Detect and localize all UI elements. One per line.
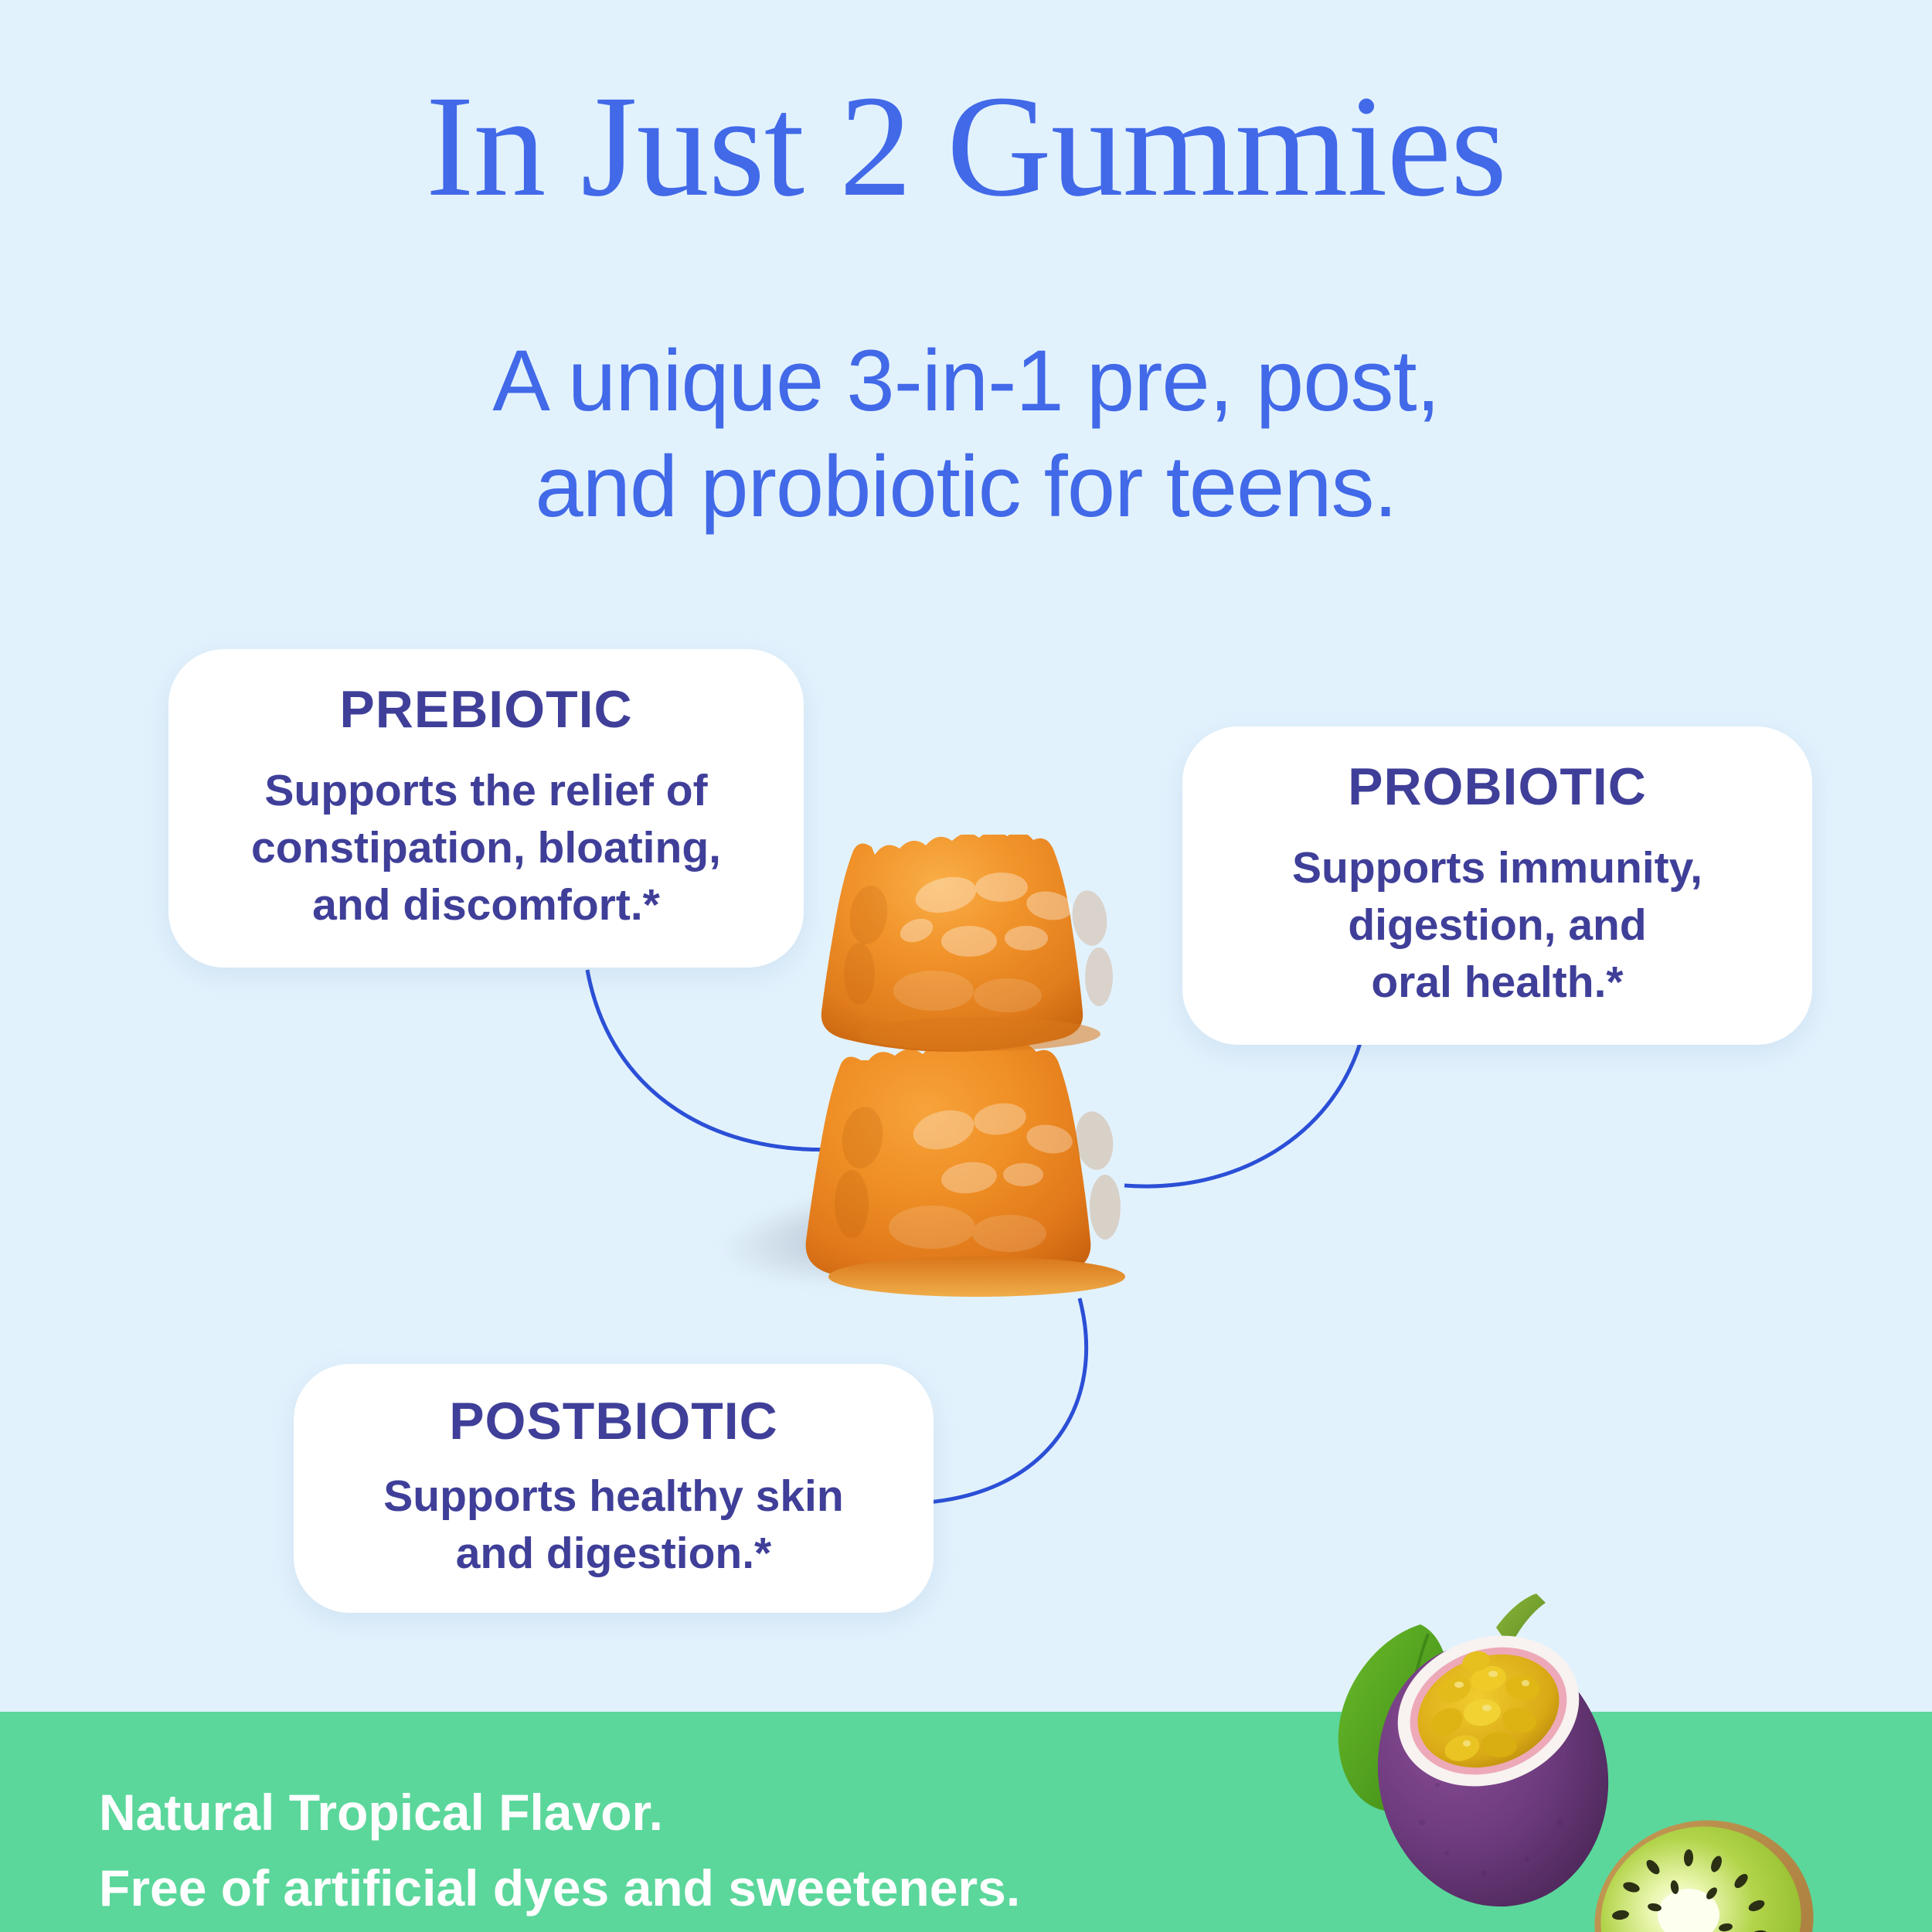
card-prebiotic-body-line-3: and discomfort.* — [251, 876, 721, 934]
card-prebiotic-body-line-2: constipation, bloating, — [251, 819, 721, 876]
card-probiotic-heading: PROBIOTIC — [1348, 760, 1647, 813]
card-prebiotic-body: Supports the relief of constipation, blo… — [251, 762, 721, 934]
gummy-bottom — [777, 1045, 1179, 1308]
flavor-banner-line-2: Free of artificial dyes and sweeteners. — [99, 1851, 1020, 1927]
card-postbiotic-body-line-2: and digestion.* — [383, 1525, 843, 1582]
card-probiotic-body: Supports immunity, digestion, and oral h… — [1292, 839, 1702, 1011]
card-prebiotic-heading: PREBIOTIC — [339, 683, 632, 736]
card-postbiotic: POSTBIOTIC Supports healthy skin and dig… — [294, 1364, 934, 1613]
kiwi-slice-image — [1588, 1807, 1835, 1932]
card-probiotic-body-line-1: Supports immunity, — [1292, 839, 1702, 896]
card-probiotic-body-line-2: digestion, and — [1292, 896, 1702, 954]
card-postbiotic-heading: POSTBIOTIC — [449, 1395, 778, 1447]
card-postbiotic-body-line-1: Supports healthy skin — [383, 1468, 843, 1525]
gummy-stack-image — [773, 835, 1206, 1337]
page-subtitle: A unique 3-in-1 pre, post, and probiotic… — [0, 328, 1932, 539]
gummy-top — [794, 835, 1165, 1066]
subtitle-line-2: and probiotic for teens. — [0, 434, 1932, 540]
card-probiotic-body-line-3: oral health.* — [1292, 954, 1702, 1011]
card-probiotic: PROBIOTIC Supports immunity, digestion, … — [1182, 726, 1812, 1045]
card-prebiotic-body-line-1: Supports the relief of — [251, 762, 721, 819]
card-postbiotic-body: Supports healthy skin and digestion.* — [383, 1468, 843, 1582]
page-title: In Just 2 Gummies — [0, 73, 1932, 219]
subtitle-line-1: A unique 3-in-1 pre, post, — [0, 328, 1932, 434]
flavor-banner-line-1: Natural Tropical Flavor. — [99, 1775, 1020, 1851]
card-prebiotic: PREBIOTIC Supports the relief of constip… — [168, 649, 804, 968]
flavor-banner-text: Natural Tropical Flavor. Free of artific… — [99, 1775, 1020, 1926]
product-infographic: In Just 2 Gummies A unique 3-in-1 pre, p… — [0, 0, 1932, 1932]
